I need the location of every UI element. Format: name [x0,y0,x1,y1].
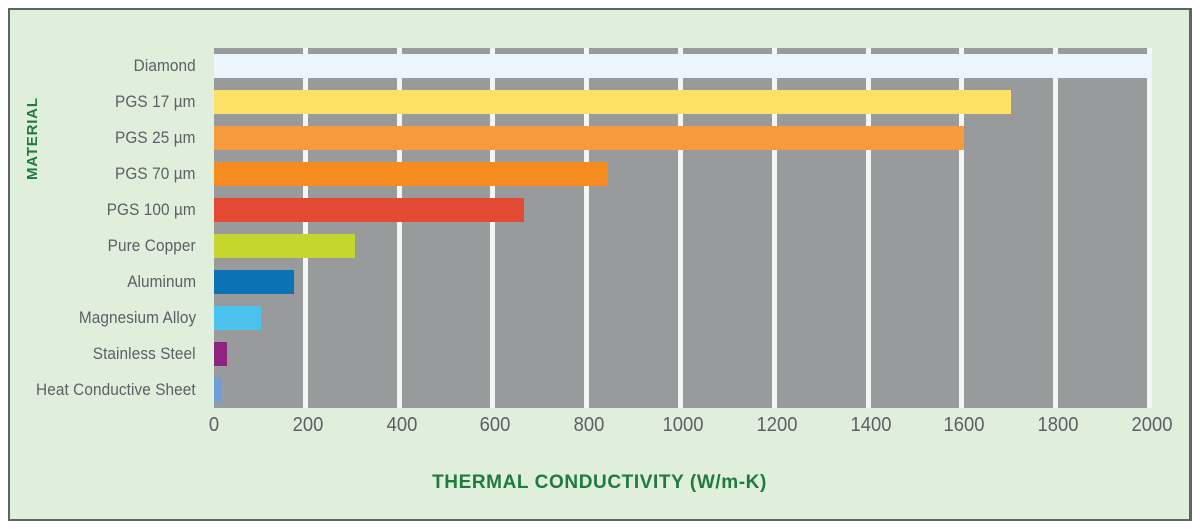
bar-diamond [214,54,1152,78]
bar-heat-conductive-sheet [214,378,221,402]
bar-stainless-steel [214,342,227,366]
bar-pgs-100-m [214,198,524,222]
bar-row [214,162,1152,186]
bar-row [214,90,1152,114]
y-axis-label: Heat Conductive Sheet [36,378,196,402]
x-axis-tick-label: 600 [480,414,511,437]
y-axis-label: PGS 70 µm [116,162,196,186]
y-axis-label: PGS 25 µm [116,126,196,150]
x-axis-tick-label: 800 [574,414,605,437]
bar-pgs-70-m [214,162,608,186]
x-axis-tick-label: 0 [209,414,219,437]
plot-area [214,48,1152,408]
y-axis-label: Magnesium Alloy [79,306,196,330]
y-axis-labels: DiamondPGS 17 µmPGS 25 µmPGS 70 µmPGS 10… [10,48,206,408]
x-axis-tick-label: 200 [292,414,323,437]
bar-row [214,342,1152,366]
y-axis-label: PGS 100 µm [107,198,196,222]
x-axis-tick-labels: 0200400600800100012001400160018002000 [214,414,1152,444]
bar-pgs-25-m [214,126,964,150]
y-axis-label: Diamond [134,54,196,78]
y-axis-label: Pure Copper [108,234,196,258]
bar-row [214,378,1152,402]
x-axis-tick-label: 1000 [663,414,704,437]
bar-row [214,126,1152,150]
bar-pure-copper [214,234,355,258]
x-axis-tick-label: 400 [386,414,417,437]
bar-pgs-17-m [214,90,1011,114]
bar-row [214,270,1152,294]
y-axis-label: PGS 17 µm [116,90,196,114]
x-axis-tick-label: 1400 [850,414,891,437]
x-axis-tick-label: 1200 [756,414,797,437]
x-axis-tick-label: 1800 [1038,414,1079,437]
bar-aluminum [214,270,294,294]
x-axis-tick-label: 2000 [1132,414,1173,437]
y-axis-label: Stainless Steel [93,342,196,366]
bar-series [214,48,1152,408]
bar-row [214,234,1152,258]
chart-screenshot: MATERIAL DiamondPGS 17 µmPGS 25 µmPGS 70… [0,0,1200,529]
bar-magnesium-alloy [214,306,261,330]
y-axis-label: Aluminum [127,270,196,294]
x-axis-title: THERMAL CONDUCTIVITY (W/m-K) [10,472,1189,494]
bar-row [214,54,1152,78]
x-axis-tick-label: 1600 [944,414,985,437]
bar-row [214,198,1152,222]
chart-panel: MATERIAL DiamondPGS 17 µmPGS 25 µmPGS 70… [8,8,1192,521]
bar-row [214,306,1152,330]
